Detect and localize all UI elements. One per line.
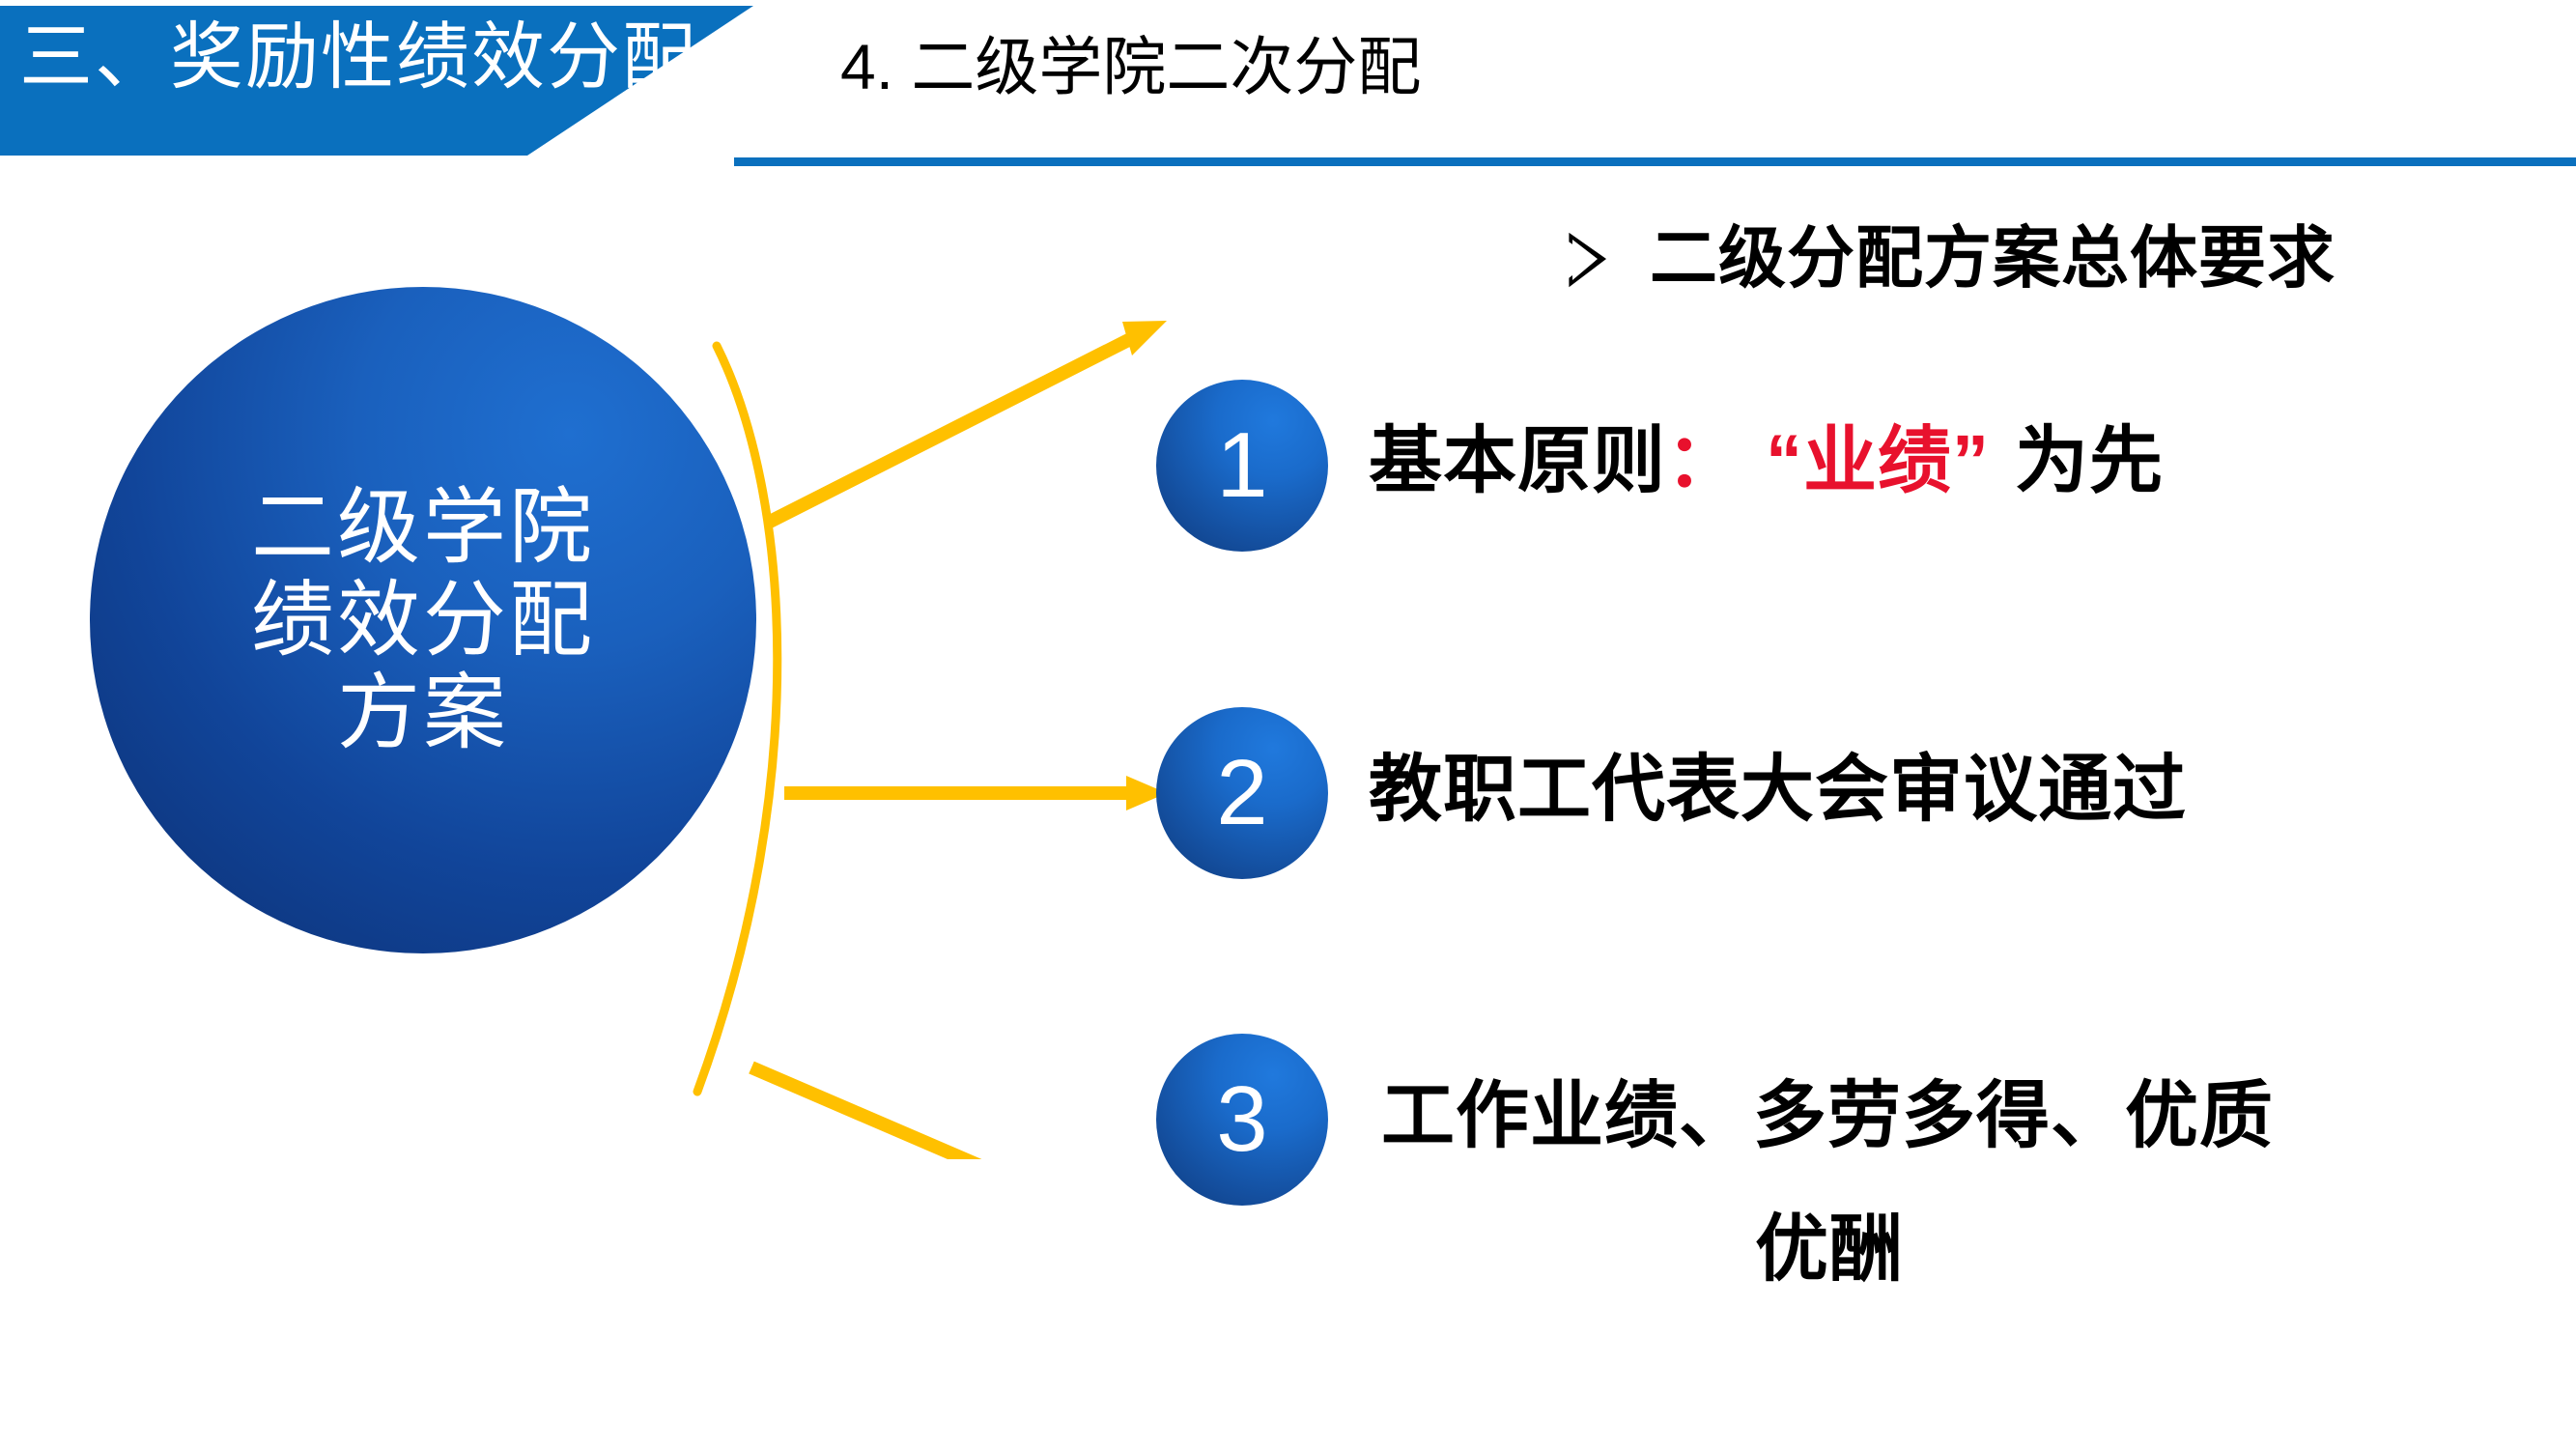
node-number-3: 3	[1216, 1073, 1267, 1166]
item-1-text: 基本原则：“业绩”为先	[1369, 425, 2164, 498]
slide-header: 三、奖励性绩效分配 4. 二级学院二次分配	[0, 0, 2576, 193]
item-3-text-line-2: 优酬	[1755, 1213, 1904, 1287]
node-circle-2[interactable]: 2	[1156, 707, 1328, 879]
hub-line-2: 绩效分配	[251, 574, 595, 667]
item-1-part-highlight: “业绩”	[1766, 420, 1990, 502]
connector-arrows-group	[676, 242, 1294, 1159]
header-band-title: 三、奖励性绩效分配	[19, 21, 734, 95]
node-circle-1[interactable]: 1	[1156, 380, 1328, 552]
connector-arrow-3	[751, 1067, 1165, 1159]
node-circle-3[interactable]: 3	[1156, 1034, 1328, 1206]
item-1-part-principle: 基本原则	[1369, 420, 1666, 502]
item-1-part-colon: ：	[1666, 420, 1741, 502]
hub-circle[interactable]: 二级学院 绩效分配 方案	[90, 287, 756, 953]
item-1-part-tail: 为先	[2015, 420, 2164, 502]
hub-line-3: 方案	[337, 667, 509, 759]
section-heading: 二级分配方案总体要求	[1565, 224, 2335, 292]
node-number-1: 1	[1216, 419, 1267, 512]
item-2-text: 教职工代表大会审议通过	[1369, 753, 2187, 827]
hub-line-1: 二级学院	[251, 481, 595, 574]
arrow-bullet-icon	[1565, 230, 1609, 290]
slide-canvas: 三、奖励性绩效分配 4. 二级学院二次分配 二级分配方案总体要求 二级学院 绩效…	[0, 0, 2576, 1450]
item-3-text-line-1: 工作业绩、多劳多得、优质	[1381, 1080, 2274, 1153]
node-number-2: 2	[1216, 747, 1267, 839]
header-divider-rule	[734, 157, 2576, 166]
section-heading-label: 二级分配方案总体要求	[1650, 224, 2335, 292]
connector-arrow-1	[770, 321, 1167, 522]
header-subtitle: 4. 二级学院二次分配	[840, 35, 1421, 99]
connector-arrow-2	[784, 776, 1167, 810]
